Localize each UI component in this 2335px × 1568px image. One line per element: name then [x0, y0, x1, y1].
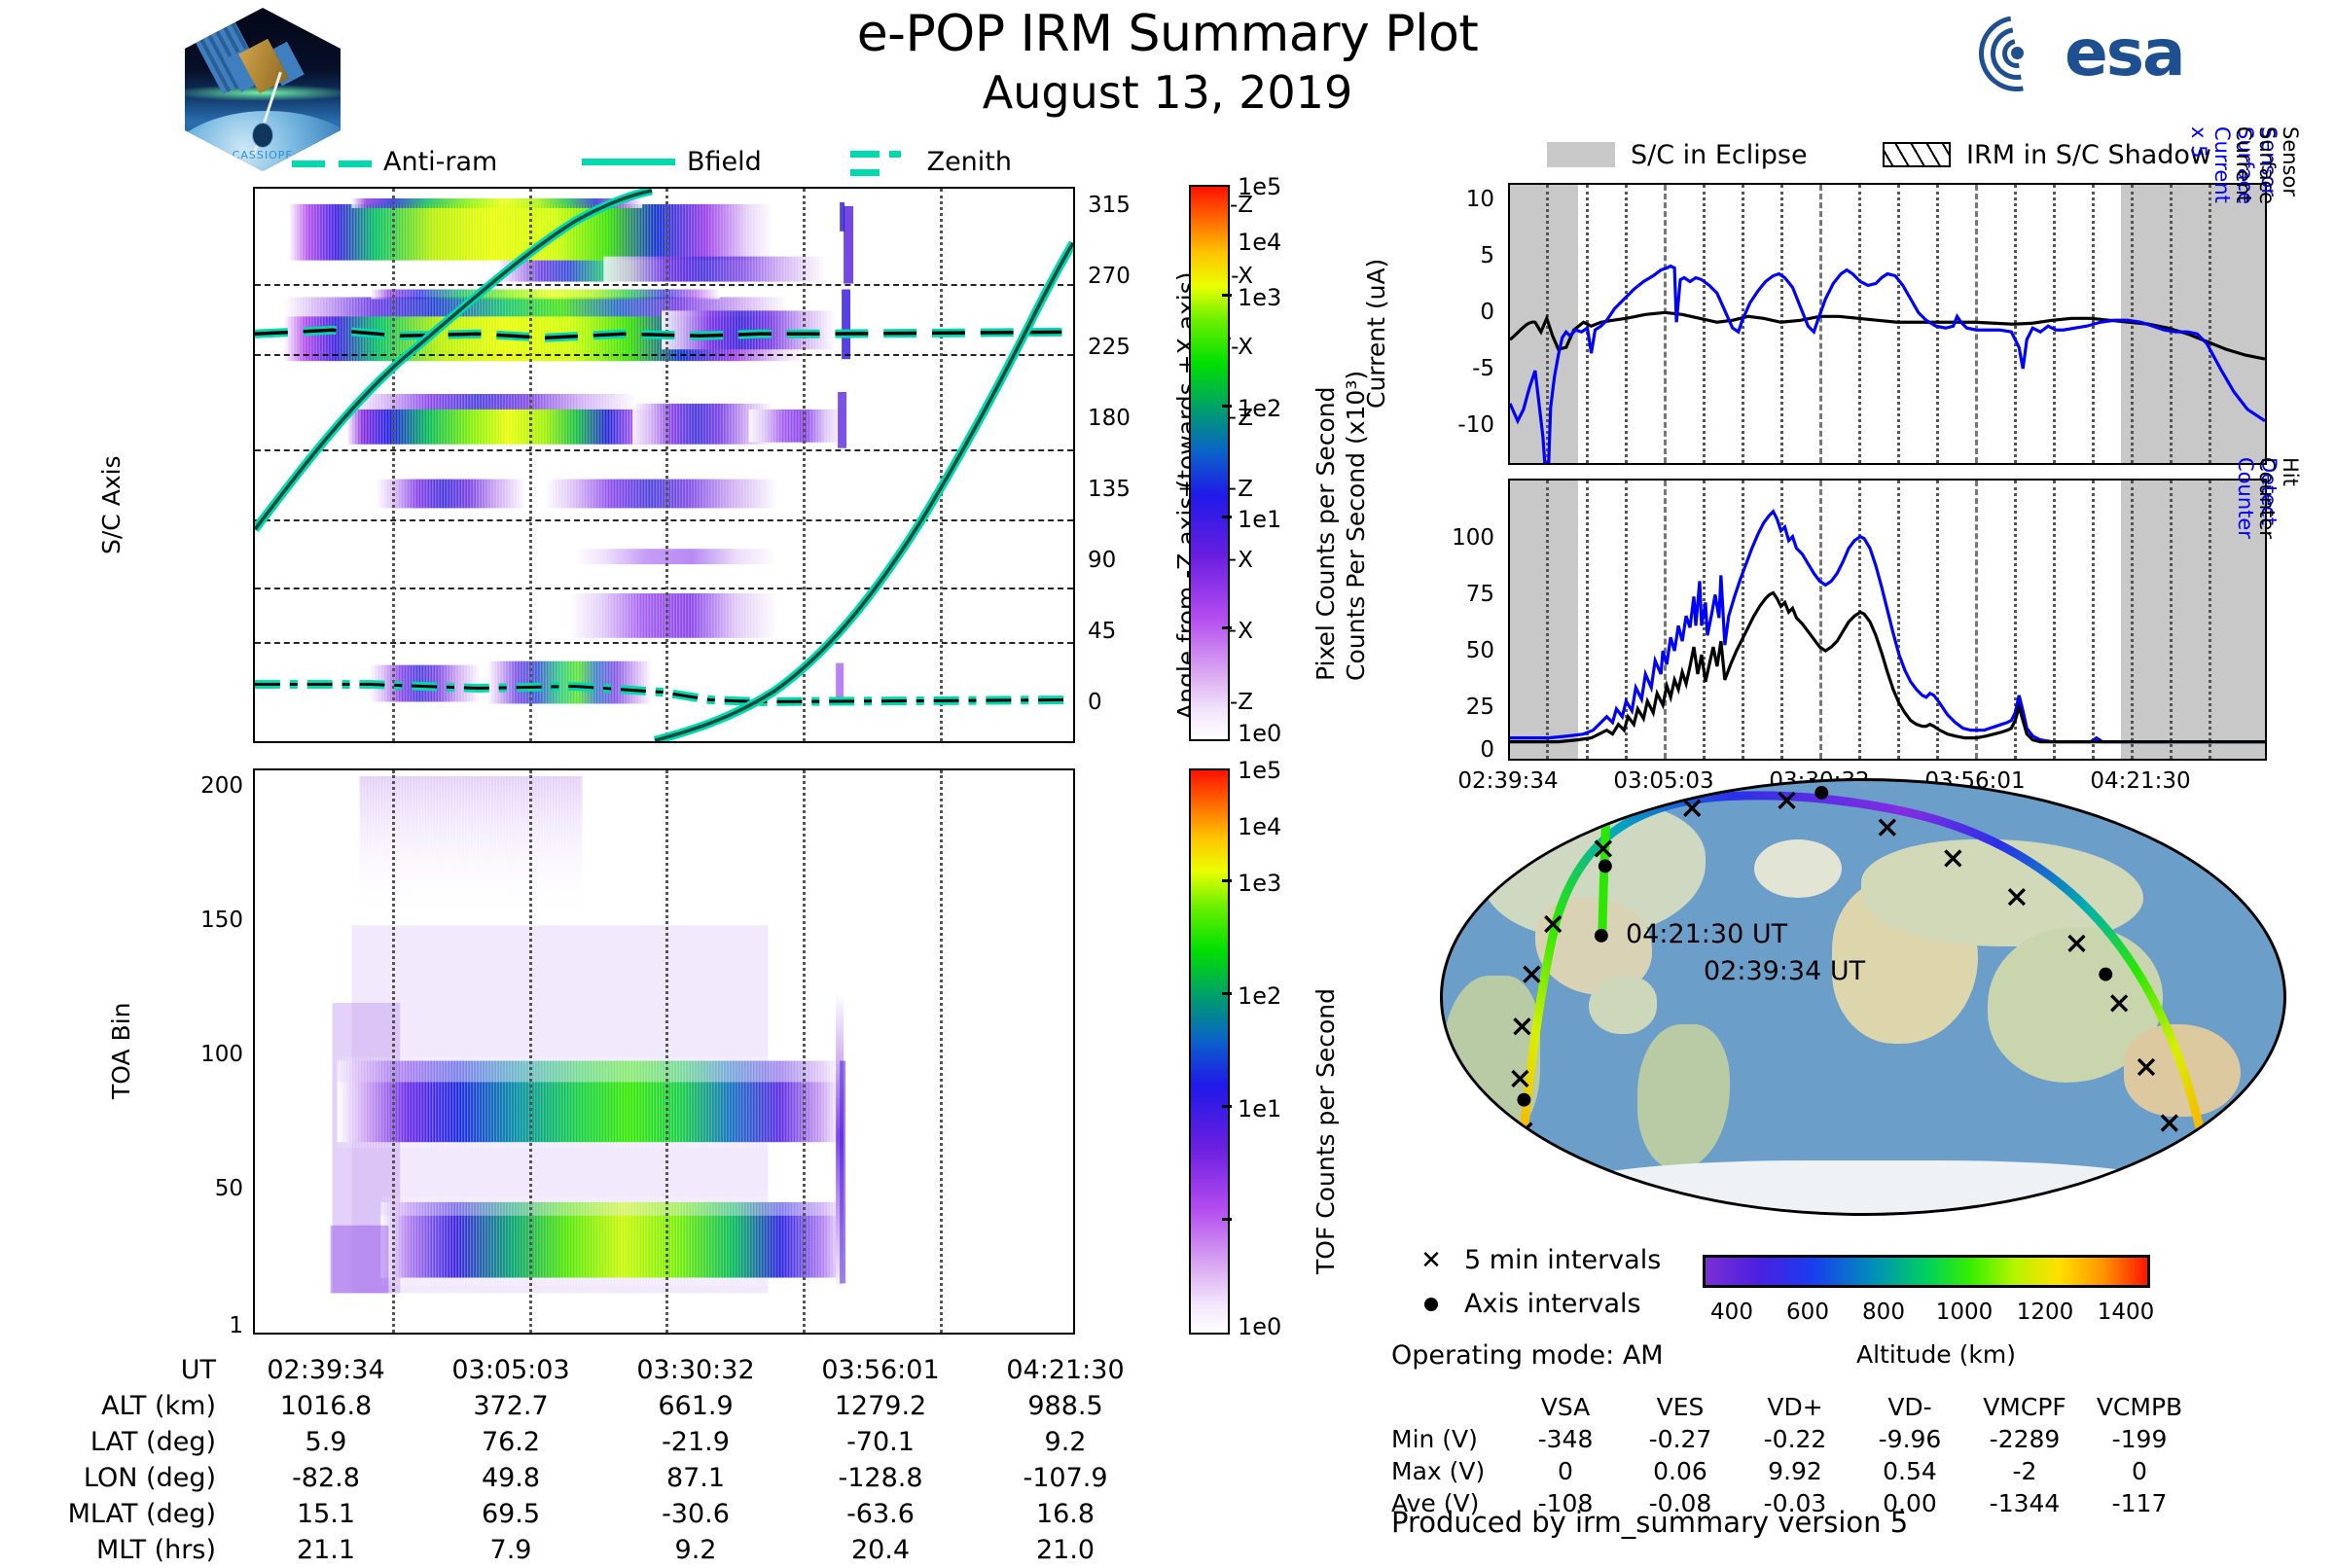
eph-cell: 661.9 [603, 1388, 788, 1424]
volt-cell: 0.54 [1852, 1455, 1967, 1487]
map-legend-item-5min: ✕ 5 min intervals [1416, 1245, 1661, 1275]
eph-row-label: UT [39, 1352, 233, 1388]
eph-cell: 15.1 [233, 1496, 418, 1532]
legend-item-bfield: Bfield [582, 144, 762, 179]
eph-cell: -21.9 [603, 1424, 788, 1460]
toa-bin-spectrogram-image [255, 770, 1073, 1334]
legend-label-zenith: Zenith [927, 147, 1012, 177]
legend-label-anti-ram: Anti-ram [383, 147, 497, 177]
current-plot-traces [1510, 185, 2265, 465]
volt-cell: -199 [2082, 1423, 2197, 1455]
eph-cell: 03:30:32 [603, 1352, 788, 1388]
volt-col-header: VSA [1508, 1391, 1623, 1423]
volt-cell: -2 [1967, 1455, 2082, 1487]
current-ytick: -10 [1401, 412, 1494, 438]
pixel-counts-colorbar [1189, 185, 1230, 741]
eph-cell: 7.9 [418, 1532, 603, 1568]
current-plot-panel [1508, 183, 2267, 465]
volt-cell: -0.22 [1738, 1423, 1852, 1455]
legend-item-zenith: Zenith [850, 144, 1012, 179]
volt-row-label: Max (V) [1391, 1455, 1508, 1487]
shadow-hatch-swatch [1883, 142, 1951, 167]
volt-cell: -1344 [1967, 1487, 2082, 1519]
eph-cell: 04:21:30 [973, 1352, 1158, 1388]
alt-tick: 600 [1774, 1300, 1842, 1325]
ephemeris-table: UT02:39:3403:05:0303:30:3203:56:0104:21:… [39, 1352, 1158, 1568]
pixel-cbar-tick: 1e4 [1238, 229, 1281, 256]
volt-row-label: Min (V) [1391, 1423, 1508, 1455]
pixel-cbar-tick: 1e2 [1238, 395, 1281, 422]
gridline-v [803, 189, 806, 741]
eclipse-swatch [1547, 142, 1615, 167]
operating-mode-label: Operating mode: AM [1391, 1340, 1664, 1371]
volt-cell: -117 [2082, 1487, 2197, 1519]
current-ytick: -5 [1401, 356, 1494, 381]
map-legend-item-axis: Axis intervals [1416, 1289, 1641, 1319]
toa-ytick: 200 [146, 773, 243, 799]
eph-cell: -128.8 [788, 1460, 973, 1496]
altitude-colorbar [1703, 1255, 2150, 1288]
eph-row-label: LAT (deg) [39, 1424, 233, 1460]
gridline-v [529, 189, 532, 741]
esa-logo: esa [1975, 10, 2238, 97]
gridline-v [665, 189, 668, 741]
x-marker-icon: ✕ [1416, 1248, 1447, 1273]
map-legend-label-axis: Axis intervals [1464, 1289, 1641, 1319]
volt-col-header: VMCPF [1967, 1391, 2082, 1423]
gridline-h [255, 642, 1073, 644]
voltage-summary-table: VSAVESVD+VD-VMCPFVCMPB Min (V)-348-0.27-… [1391, 1391, 2197, 1519]
eph-cell: 988.5 [973, 1388, 1158, 1424]
alt-tick: 1400 [2087, 1300, 2165, 1325]
anti-ram-line-swatch [292, 153, 372, 171]
table-row: LAT (deg)5.976.2-21.9-70.19.2 [39, 1424, 1158, 1460]
toa-bin-spectrogram-panel [253, 768, 1075, 1335]
counts-ytick: 100 [1382, 525, 1494, 551]
eclipse-legend-label: S/C in Eclipse [1631, 140, 1808, 170]
sc-axis-spectrogram-panel [253, 187, 1075, 743]
counts-plot-traces [1510, 481, 2265, 761]
gridline-h [255, 354, 1073, 356]
volt-col-header: VCMPB [2082, 1391, 2197, 1423]
toa-ytick: 1 [146, 1313, 243, 1338]
eph-cell: 20.4 [788, 1532, 973, 1568]
counts-right-label-black: Hit Counter [2255, 457, 2302, 539]
current-ytick: 5 [1401, 243, 1494, 268]
alt-tick: 800 [1850, 1300, 1918, 1325]
gridline-v [940, 189, 943, 741]
pixel-cbar-tick: 1e0 [1238, 720, 1281, 747]
pixel-cbar-tick: 1e3 [1238, 284, 1281, 311]
eph-cell: 16.8 [973, 1496, 1158, 1532]
counts-plot-panel [1508, 479, 2267, 761]
page-title: e-POP IRM Summary Plot [584, 5, 1751, 63]
bfield-line-swatch [582, 159, 675, 165]
volt-col-header: VD+ [1738, 1391, 1852, 1423]
spec-y-axis-left-title: S/C Axis [97, 455, 126, 554]
eph-cell: -107.9 [973, 1460, 1158, 1496]
ground-track-map-panel: 04:21:30 UT 02:39:34 UT [1440, 778, 2286, 1216]
volt-cell: -9.96 [1852, 1423, 1967, 1455]
table-row: Min (V)-348-0.27-0.22-9.96-2289-199 [1391, 1423, 2197, 1455]
counts-ytick: 50 [1382, 638, 1494, 663]
gridline-v [529, 770, 532, 1333]
map-label-end-ut: 04:21:30 UT [1626, 919, 1787, 949]
map-legend-label-5min: 5 min intervals [1464, 1245, 1661, 1275]
counts-ytick: 0 [1382, 737, 1494, 763]
eph-cell: 21.0 [973, 1532, 1158, 1568]
volt-col-header: VES [1623, 1391, 1738, 1423]
tof-cbar-tick: 1e0 [1238, 1313, 1281, 1340]
pixel-cbar-title: Pixel Counts per Second [1311, 387, 1340, 681]
dot-marker-icon [1416, 1298, 1447, 1311]
toa-ytick: 150 [146, 908, 243, 933]
volt-cell: 0 [2082, 1455, 2197, 1487]
toa-ytick: 50 [146, 1176, 243, 1201]
tof-counts-colorbar [1189, 768, 1230, 1335]
orbit-track [1443, 781, 2283, 1216]
gridline-v [392, 189, 395, 741]
current-ytick: 10 [1401, 187, 1494, 212]
tof-cbar-tick: 1e4 [1238, 813, 1281, 840]
table-row: MLT (hrs)21.17.99.220.421.0 [39, 1532, 1158, 1568]
pixel-cbar-tick: 1e1 [1238, 506, 1281, 533]
gridline-h [255, 449, 1073, 451]
volt-cell: 0.06 [1623, 1455, 1738, 1487]
gridline-h [255, 284, 1073, 286]
legend-label-bfield: Bfield [687, 147, 762, 177]
toa-ytick: 100 [146, 1042, 243, 1067]
gridline-v [392, 770, 395, 1333]
alt-tick: 1200 [2006, 1300, 2084, 1325]
world-map: 04:21:30 UT 02:39:34 UT [1440, 778, 2286, 1216]
eph-cell: 87.1 [603, 1460, 788, 1496]
tof-cbar-tick: 1e1 [1238, 1095, 1281, 1123]
eph-cell: 372.7 [418, 1388, 603, 1424]
eph-row-label: ALT (km) [39, 1388, 233, 1424]
alt-tick: 1000 [1925, 1300, 2003, 1325]
eph-cell: 1016.8 [233, 1388, 418, 1424]
eph-cell: 03:56:01 [788, 1352, 973, 1388]
shadow-legend-label: IRM in S/C Shadow [1966, 140, 2211, 170]
eph-cell: 5.9 [233, 1424, 418, 1460]
table-row: Max (V)00.069.920.54-20 [1391, 1455, 2197, 1487]
volt-cell: 9.92 [1738, 1455, 1852, 1487]
counts-y-axis-title: Counts Per Second (x10³) [1343, 418, 1371, 681]
gridline-v [803, 770, 806, 1333]
footer-credit: Produced by irm_summary version 5 [1391, 1506, 1908, 1539]
counts-ytick: 25 [1382, 695, 1494, 720]
sc-axis-spectrogram-image [255, 189, 1073, 742]
eph-cell: 1279.2 [788, 1388, 973, 1424]
table-row: ALT (km)1016.8372.7661.91279.2988.5 [39, 1388, 1158, 1424]
alt-tick: 400 [1698, 1300, 1766, 1325]
eph-cell: 02:39:34 [233, 1352, 418, 1388]
altitude-cbar-title: Altitude (km) [1800, 1340, 2072, 1369]
eph-cell: -30.6 [603, 1496, 788, 1532]
eph-cell: 9.2 [603, 1532, 788, 1568]
eph-row-label: LON (deg) [39, 1460, 233, 1496]
volt-cell: -0.27 [1623, 1423, 1738, 1455]
eph-cell: 49.8 [418, 1460, 603, 1496]
legend-item-anti-ram: Anti-ram [292, 144, 497, 179]
tof-cbar-title: TOF Counts per Second [1311, 988, 1340, 1274]
volt-cell: -2289 [1967, 1423, 2082, 1455]
gridline-v [940, 770, 943, 1333]
shadow-legend-item: IRM in S/C Shadow [1883, 138, 2211, 171]
volt-cell: 0 [1508, 1455, 1623, 1487]
page-subtitle-date: August 13, 2019 [584, 66, 1751, 119]
tof-cbar-tick: 1e5 [1238, 757, 1281, 784]
spectrogram-legend: Anti-ram Bfield Zenith [272, 144, 1012, 179]
eph-cell: 76.2 [418, 1424, 603, 1460]
tof-cbar-tick: 1e2 [1238, 982, 1281, 1010]
eclipse-legend-item: S/C in Eclipse [1547, 138, 1808, 171]
volt-cell: -348 [1508, 1423, 1623, 1455]
eph-cell: 9.2 [973, 1424, 1158, 1460]
current-ytick: 0 [1401, 300, 1494, 325]
gridline-v [665, 770, 668, 1333]
toa-y-axis-title: TOA Bin [107, 1003, 135, 1100]
eph-cell: 69.5 [418, 1496, 603, 1532]
gridline-h [255, 588, 1073, 589]
eph-cell: -70.1 [788, 1424, 973, 1460]
map-label-start-ut: 02:39:34 UT [1704, 956, 1865, 986]
pixel-cbar-tick: 1e5 [1238, 173, 1281, 200]
esa-wordmark: esa [2065, 16, 2184, 90]
eph-row-label: MLAT (deg) [39, 1496, 233, 1532]
spec-ytick-right: 315 [1088, 193, 1204, 218]
table-row: MLAT (deg)15.169.5-30.6-63.616.8 [39, 1496, 1158, 1532]
gridline-h [255, 519, 1073, 521]
counts-ytick: 75 [1382, 582, 1494, 607]
zenith-line-swatch [850, 143, 916, 180]
eph-row-label: MLT (hrs) [39, 1532, 233, 1568]
eph-cell: 21.1 [233, 1532, 418, 1568]
tof-cbar-tick: 1e3 [1238, 870, 1281, 897]
volt-col-header: VD- [1852, 1391, 1967, 1423]
current-right-label-black: Sensor Surface Current [2232, 126, 2302, 204]
table-row: LON (deg)-82.849.887.1-128.8-107.9 [39, 1460, 1158, 1496]
eph-cell: 03:05:03 [418, 1352, 603, 1388]
table-row: UT02:39:3403:05:0303:30:3203:56:0104:21:… [39, 1352, 1158, 1388]
eph-cell: -63.6 [788, 1496, 973, 1532]
eph-cell: -82.8 [233, 1460, 418, 1496]
